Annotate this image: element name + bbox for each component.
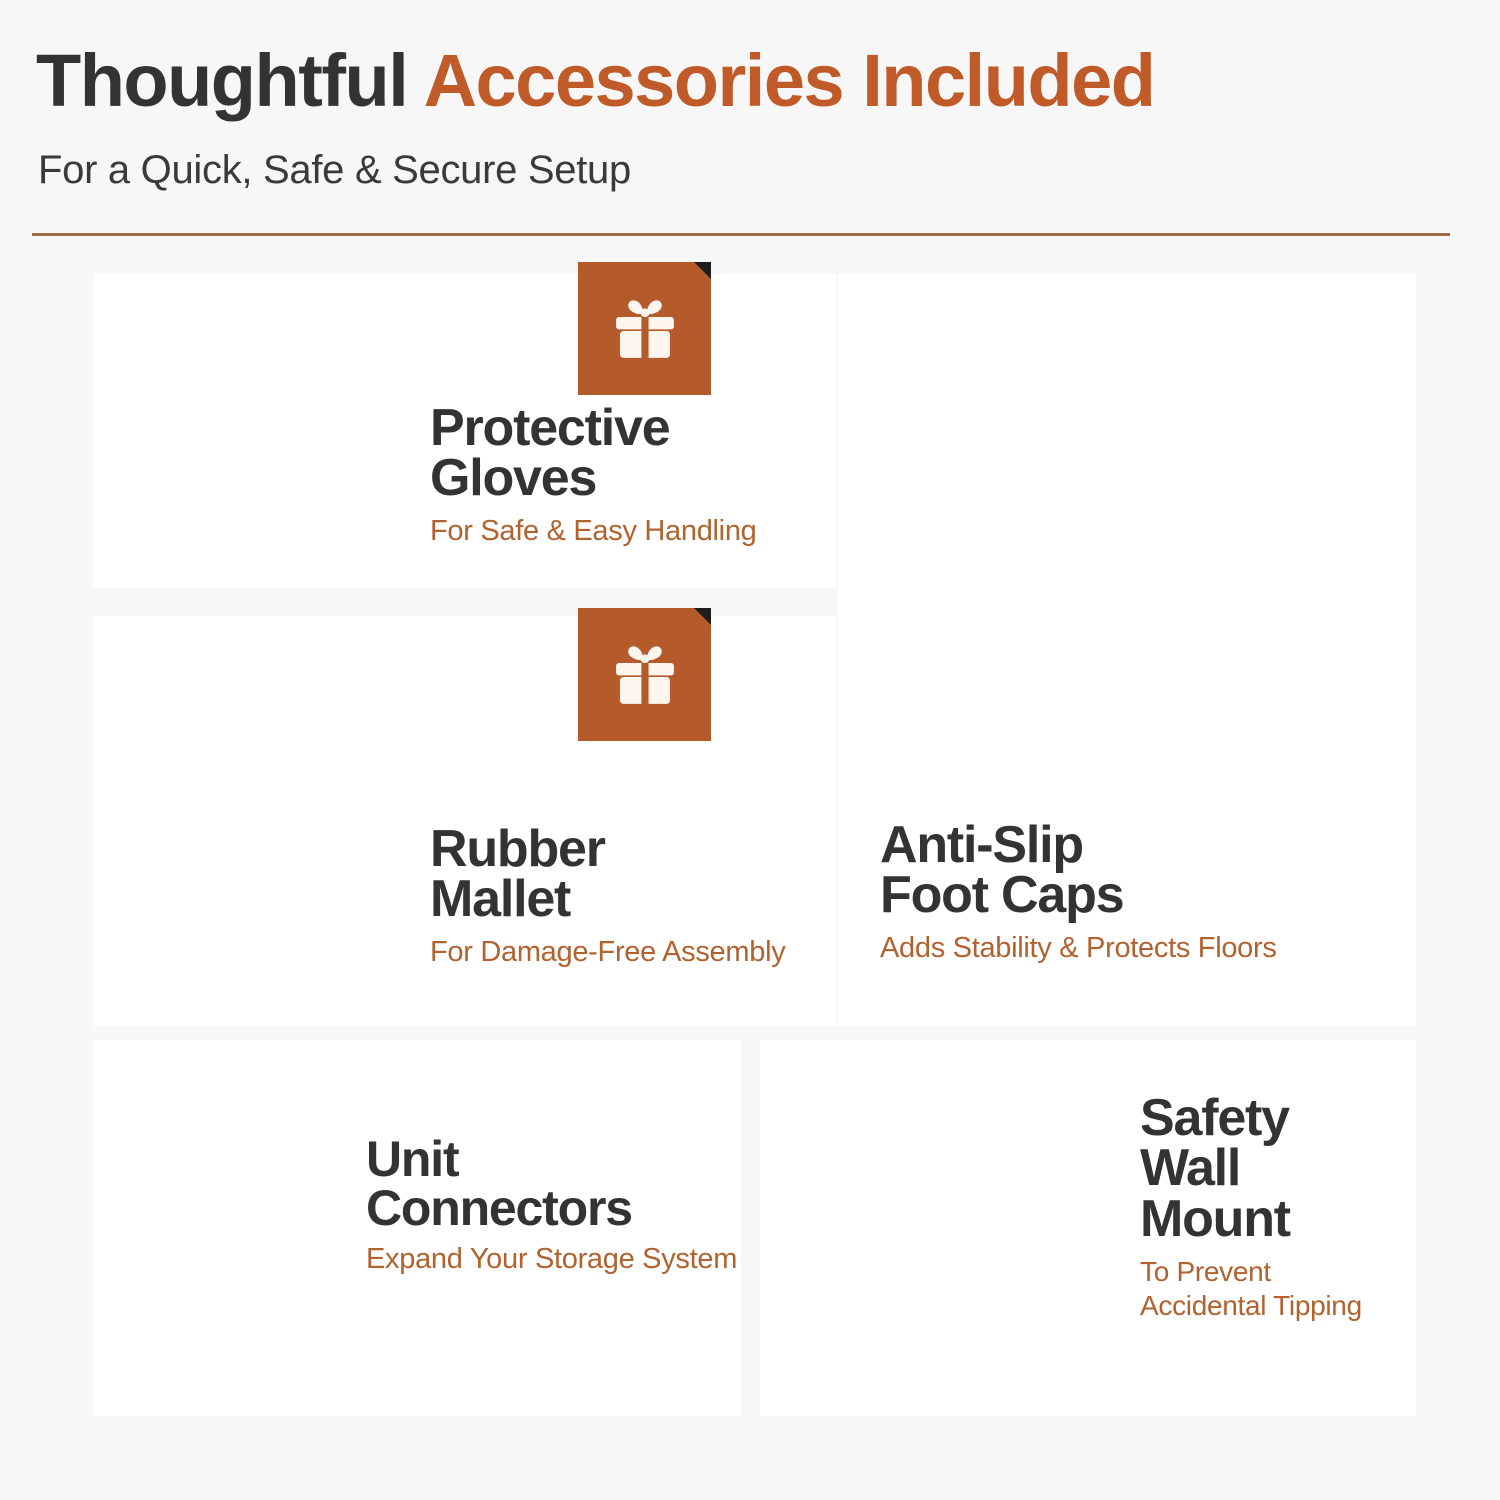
connectors-text-block: Unit Connectors Expand Your Storage Syst… bbox=[366, 1135, 737, 1275]
badge-corner-fold bbox=[694, 608, 711, 625]
mallet-heading: Rubber Mallet bbox=[430, 824, 785, 925]
foot-caps-caption: Adds Stability & Protects Floors bbox=[880, 932, 1277, 964]
page-subtitle: For a Quick, Safe & Secure Setup bbox=[38, 148, 631, 193]
gift-box-icon bbox=[578, 608, 711, 741]
foot-caps-heading: Anti-Slip Foot Caps bbox=[880, 820, 1277, 921]
gloves-text-block: Protective Gloves For Safe & Easy Handli… bbox=[430, 403, 756, 547]
connectors-caption: Expand Your Storage System bbox=[366, 1243, 737, 1275]
page-title: Thoughtful Accessories Included bbox=[36, 44, 1154, 118]
gift-box-icon bbox=[578, 262, 711, 395]
mallet-caption: For Damage-Free Assembly bbox=[430, 936, 785, 968]
wall-mount-caption: To Prevent Accidental Tipping bbox=[1140, 1255, 1362, 1322]
page-title-part-one: Thoughtful bbox=[36, 39, 424, 122]
connectors-heading: Unit Connectors bbox=[366, 1135, 737, 1232]
gloves-caption: For Safe & Easy Handling bbox=[430, 515, 756, 547]
page-header: Thoughtful Accessories Included For a Qu… bbox=[0, 0, 1500, 236]
badge-corner-fold bbox=[694, 262, 711, 279]
white-knit-gloves-pair-image bbox=[211, 570, 511, 588]
wall-mount-text-block: Safety Wall Mount To Prevent Accidental … bbox=[1140, 1093, 1362, 1323]
mallet-text-block: Rubber Mallet For Damage-Free Assembly bbox=[430, 824, 785, 968]
header-divider bbox=[32, 233, 1450, 236]
gloves-heading: Protective Gloves bbox=[430, 403, 756, 504]
page-title-part-two: Accessories Included bbox=[424, 39, 1155, 122]
wall-mount-heading: Safety Wall Mount bbox=[1140, 1093, 1362, 1244]
foot-caps-text-block: Anti-Slip Foot Caps Adds Stability & Pro… bbox=[880, 820, 1277, 964]
